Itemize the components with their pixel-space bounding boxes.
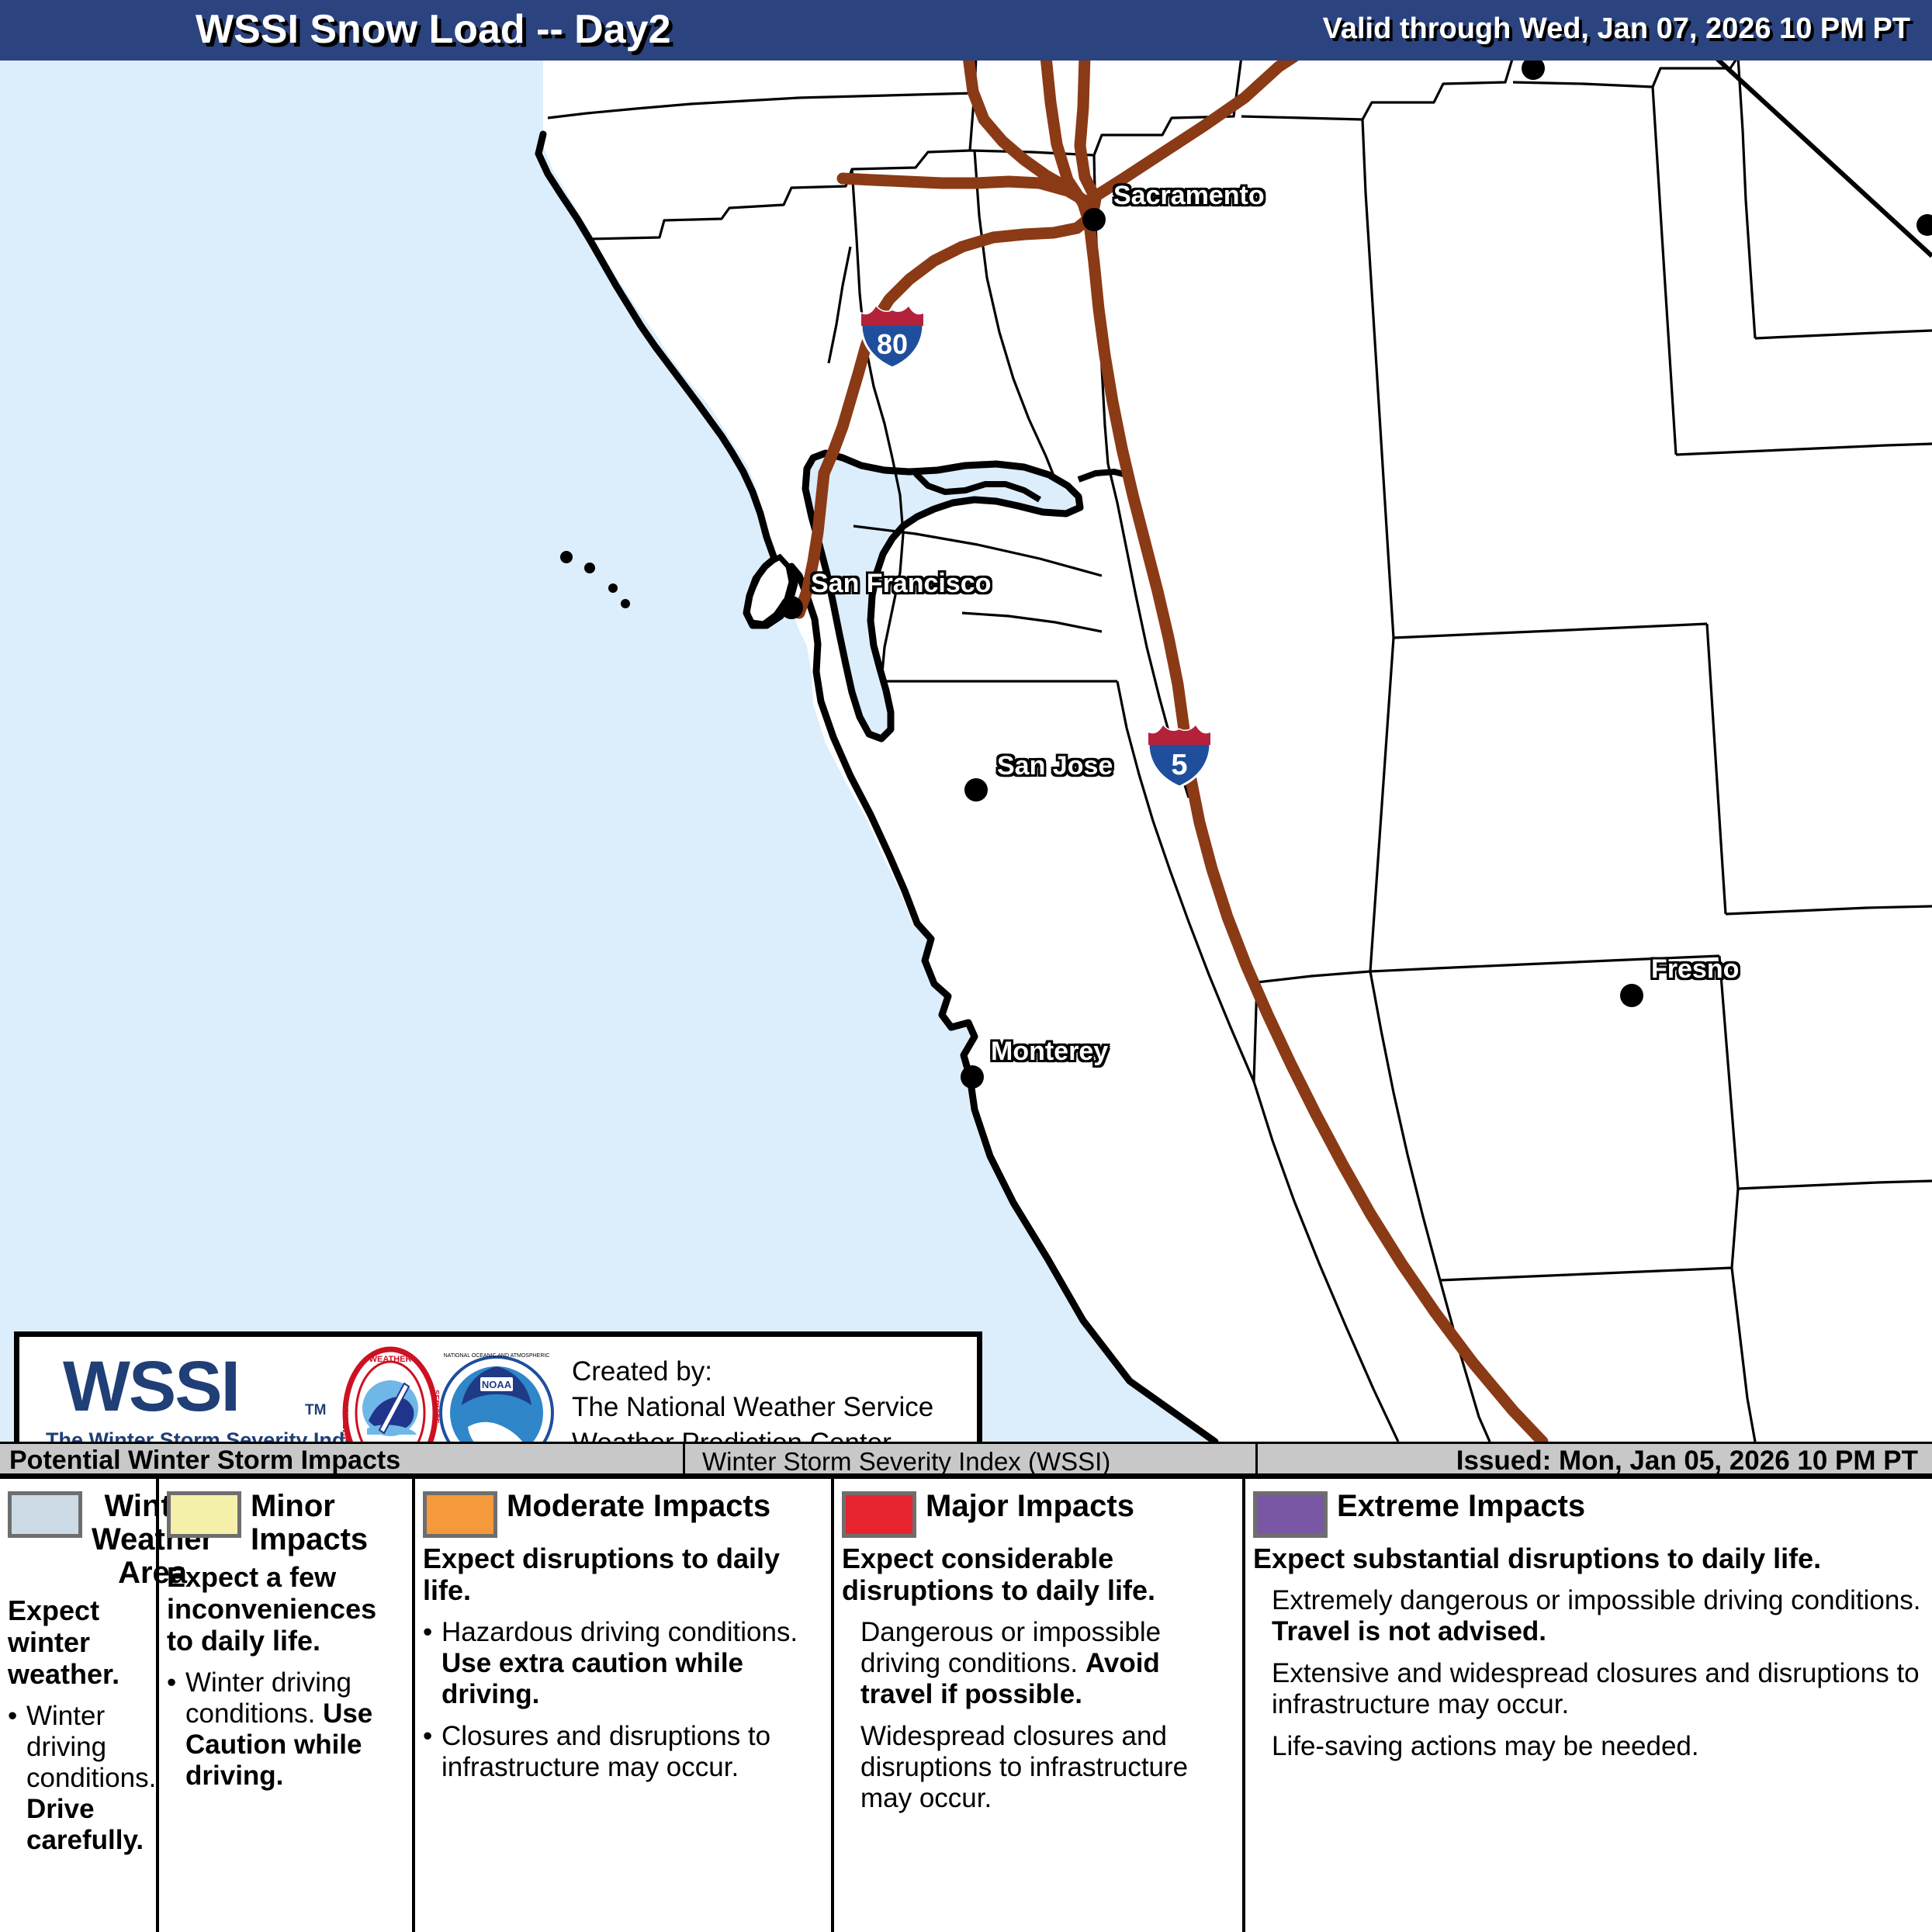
map-canvas[interactable]: 80 5 Sacramento San Francisco San Jose F…	[0, 61, 1932, 1442]
farallon-island-4	[621, 599, 630, 608]
city-dot-san-francisco	[780, 596, 803, 619]
legend-header: Moderate Impacts	[423, 1490, 823, 1538]
bullet-dot-icon: •	[167, 1667, 185, 1792]
interstate-80-shield: 80	[857, 303, 927, 369]
legend-bullet-text: Winter driving conditions. Drive careful…	[26, 1701, 156, 1856]
impacts-legend: Winter Weather AreaExpect winter weather…	[0, 1476, 1932, 1932]
legend-summary: Expect substantial disruptions to daily …	[1253, 1542, 1924, 1574]
impacts-bar: Potential Winter Storm Impacts Winter St…	[0, 1442, 1932, 1476]
legend-bullet-text: Dangerous or impossible driving conditio…	[860, 1617, 1234, 1710]
legend-bullet-text: Extensive and widespread closures and di…	[1272, 1658, 1924, 1720]
legend-title: Minor Impacts	[251, 1490, 404, 1556]
wssi-trademark: TM	[305, 1402, 326, 1419]
city-dot-san-jose	[964, 778, 988, 802]
legend-column-extreme-impacts: Extreme ImpactsExpect substantial disrup…	[1245, 1479, 1932, 1932]
legend-swatch	[8, 1491, 82, 1538]
impacts-bar-middle-label: Winter Storm Severity Index (WSSI)	[702, 1447, 1110, 1477]
legend-swatch	[1253, 1491, 1328, 1538]
city-label-san-jose: San Jose	[997, 751, 1113, 781]
legend-swatch	[842, 1491, 916, 1538]
legend-bullet-text: Life-saving actions may be needed.	[1272, 1731, 1924, 1762]
impacts-bar-divider-1	[683, 1444, 685, 1473]
impacts-bar-left-label: Potential Winter Storm Impacts	[9, 1446, 400, 1476]
legend-bullet-text: Widespread closures and disruptions to i…	[860, 1721, 1234, 1814]
bullet-dot-icon: •	[423, 1721, 441, 1783]
shield-5-number: 5	[1171, 749, 1187, 781]
legend-bullet-text: Extremely dangerous or impossible drivin…	[1272, 1585, 1924, 1647]
farallon-island-1	[560, 551, 573, 563]
legend-bullet: •Closures and disruptions to infrastruct…	[423, 1721, 823, 1783]
org-line-2: Weather Prediction Center	[572, 1425, 933, 1442]
svg-text:NATIONAL: NATIONAL	[342, 1400, 351, 1439]
legend-column-minor-impacts: Minor ImpactsExpect a few inconveniences…	[159, 1479, 415, 1932]
bullet-dot-icon: •	[8, 1701, 26, 1856]
legend-column-major-impacts: Major ImpactsExpect considerable disrupt…	[834, 1479, 1245, 1932]
issued-time-label: Issued: Mon, Jan 05, 2026 10 PM PT	[1456, 1446, 1918, 1477]
svg-text:NATIONAL OCEANIC AND ATMOSPHER: NATIONAL OCEANIC AND ATMOSPHERIC	[444, 1353, 550, 1359]
legend-bullet-text: Winter driving conditions. Use Caution w…	[185, 1667, 404, 1792]
legend-bullet: •Winter driving conditions. Drive carefu…	[8, 1701, 148, 1856]
city-label-sacramento: Sacramento	[1113, 181, 1265, 211]
impacts-bar-divider-2	[1255, 1444, 1258, 1473]
city-label-fresno: Fresno	[1651, 954, 1739, 985]
legend-summary: Expect a few inconveniences to daily lif…	[167, 1561, 404, 1657]
national-weather-service-seal-icon: WEATHER ★ ★ ★ NATIONAL SERVICE	[336, 1346, 445, 1442]
legend-summary: Expect disruptions to daily life.	[423, 1542, 823, 1606]
interstate-5-shield: 5	[1144, 722, 1214, 788]
page-title: WSSI Snow Load -- Day2	[196, 6, 671, 53]
legend-summary: Expect winter weather.	[8, 1594, 148, 1690]
farallon-island-2	[584, 563, 595, 573]
wssi-logo-box: WSSI TM The Winter Storm Severity Index …	[14, 1331, 982, 1442]
legend-bullet: Life-saving actions may be needed.	[1253, 1731, 1924, 1762]
wssi-wordmark: WSSI	[63, 1351, 239, 1422]
map-vector-layer	[0, 61, 1932, 1442]
city-dot-sacramento	[1082, 208, 1106, 231]
legend-header: Major Impacts	[842, 1490, 1234, 1538]
legend-bullet: •Winter driving conditions. Use Caution …	[167, 1667, 404, 1792]
legend-bullet: Dangerous or impossible driving conditio…	[842, 1617, 1234, 1710]
noaa-seal-icon: NOAA NATIONAL OCEANIC AND ATMOSPHERIC U.…	[438, 1346, 555, 1442]
legend-summary: Expect considerable disruptions to daily…	[842, 1542, 1234, 1606]
legend-header: Minor Impacts	[167, 1490, 404, 1556]
legend-column-moderate-impacts: Moderate ImpactsExpect disruptions to da…	[415, 1479, 834, 1932]
legend-header: Extreme Impacts	[1253, 1490, 1924, 1538]
legend-bullet: Extremely dangerous or impossible drivin…	[1253, 1585, 1924, 1647]
legend-title: Extreme Impacts	[1337, 1490, 1585, 1523]
wssi-subtitle: The Winter Storm Severity Index	[46, 1428, 368, 1442]
farallon-island-3	[608, 583, 618, 593]
legend-column-winter-weather-area: Winter Weather AreaExpect winter weather…	[0, 1479, 159, 1932]
wssi-snow-load-map-page: WSSI Snow Load -- Day2 Valid through Wed…	[0, 0, 1932, 1932]
legend-swatch	[423, 1491, 497, 1538]
legend-swatch	[167, 1491, 241, 1538]
page-header: WSSI Snow Load -- Day2 Valid through Wed…	[0, 0, 1932, 61]
shield-80-number: 80	[877, 328, 908, 360]
legend-bullet-text: Hazardous driving conditions. Use extra …	[441, 1617, 823, 1710]
legend-header: Winter Weather Area	[8, 1490, 148, 1590]
bullet-dot-icon: •	[423, 1617, 441, 1710]
legend-bullet: Extensive and widespread closures and di…	[1253, 1658, 1924, 1720]
created-by-block: Created by: The National Weather Service…	[572, 1354, 933, 1442]
org-line-1: The National Weather Service	[572, 1390, 933, 1425]
city-label-monterey: Monterey	[991, 1037, 1108, 1067]
legend-bullet: •Hazardous driving conditions. Use extra…	[423, 1617, 823, 1710]
legend-bullet: Widespread closures and disruptions to i…	[842, 1721, 1234, 1814]
city-dot-fresno	[1620, 984, 1643, 1007]
created-by-line: Created by:	[572, 1354, 933, 1390]
city-label-san-francisco: San Francisco	[811, 569, 991, 599]
valid-through-text: Valid through Wed, Jan 07, 2026 10 PM PT	[1323, 12, 1910, 46]
city-dot-monterey	[961, 1065, 984, 1089]
legend-bullet-text: Closures and disruptions to infrastructu…	[441, 1721, 823, 1783]
legend-title: Major Impacts	[926, 1490, 1134, 1523]
svg-text:NOAA: NOAA	[482, 1379, 512, 1390]
svg-text:WEATHER: WEATHER	[369, 1355, 412, 1364]
legend-title: Moderate Impacts	[507, 1490, 770, 1523]
